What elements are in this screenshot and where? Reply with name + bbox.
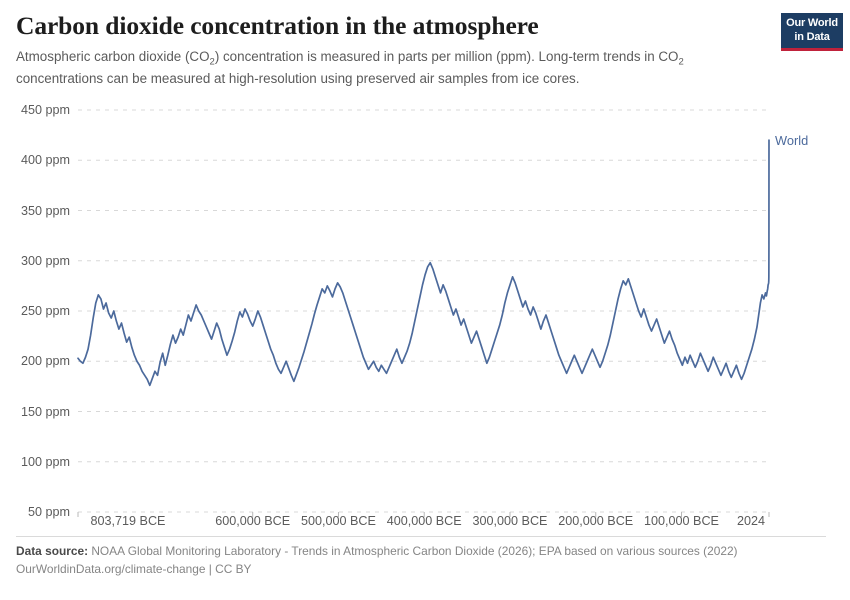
data-source-label: Data source: xyxy=(16,544,88,558)
chart-svg xyxy=(0,96,850,536)
license-line[interactable]: OurWorldinData.org/climate-change | CC B… xyxy=(16,561,826,579)
y-axis-tick-label: 250 ppm xyxy=(8,304,70,318)
y-axis-tick-label: 150 ppm xyxy=(8,405,70,419)
y-axis-tick-label: 100 ppm xyxy=(8,455,70,469)
chart-plot-area[interactable]: World 450 ppm400 ppm350 ppm300 ppm250 pp… xyxy=(0,96,850,536)
x-axis-tick-label: 500,000 BCE xyxy=(301,514,376,528)
y-axis-tick-label: 450 ppm xyxy=(8,103,70,117)
subtitle-text-1: Atmospheric carbon dioxide (CO xyxy=(16,49,210,64)
y-axis-tick-label: 300 ppm xyxy=(8,254,70,268)
data-source-line: Data source: NOAA Global Monitoring Labo… xyxy=(16,543,826,561)
x-axis-tick-label: 2024 xyxy=(737,514,765,528)
subtitle-text-2: ) concentration is measured in parts per… xyxy=(215,49,679,64)
x-axis-tick-label: 803,719 BCE xyxy=(91,514,166,528)
subtitle-subscript-2: 2 xyxy=(678,56,683,67)
x-axis-tick-label: 600,000 BCE xyxy=(215,514,290,528)
our-world-in-data-logo[interactable]: Our World in Data xyxy=(781,13,843,51)
x-axis-tick-label: 200,000 BCE xyxy=(558,514,633,528)
footer-divider xyxy=(16,536,826,537)
data-source-text: NOAA Global Monitoring Laboratory - Tren… xyxy=(91,544,737,558)
logo-line-1: Our World xyxy=(785,17,839,31)
data-series-line-world[interactable] xyxy=(78,140,769,385)
x-axis-tick-label: 300,000 BCE xyxy=(473,514,548,528)
subtitle-text-3: concentrations can be measured at high-r… xyxy=(16,71,579,86)
y-axis-tick-label: 200 ppm xyxy=(8,354,70,368)
y-axis-tick-label: 50 ppm xyxy=(8,505,70,519)
logo-line-2: in Data xyxy=(785,31,839,48)
y-axis-tick-label: 350 ppm xyxy=(8,204,70,218)
x-axis-tick-label: 100,000 BCE xyxy=(644,514,719,528)
x-axis-tick-label: 400,000 BCE xyxy=(387,514,462,528)
chart-header: Carbon dioxide concentration in the atmo… xyxy=(0,0,850,88)
y-axis-tick-label: 400 ppm xyxy=(8,153,70,167)
page-title: Carbon dioxide concentration in the atmo… xyxy=(16,12,756,41)
chart-footer: Data source: NOAA Global Monitoring Labo… xyxy=(16,543,826,579)
series-label-world: World xyxy=(775,133,808,148)
chart-subtitle: Atmospheric carbon dioxide (CO2) concent… xyxy=(16,47,758,88)
